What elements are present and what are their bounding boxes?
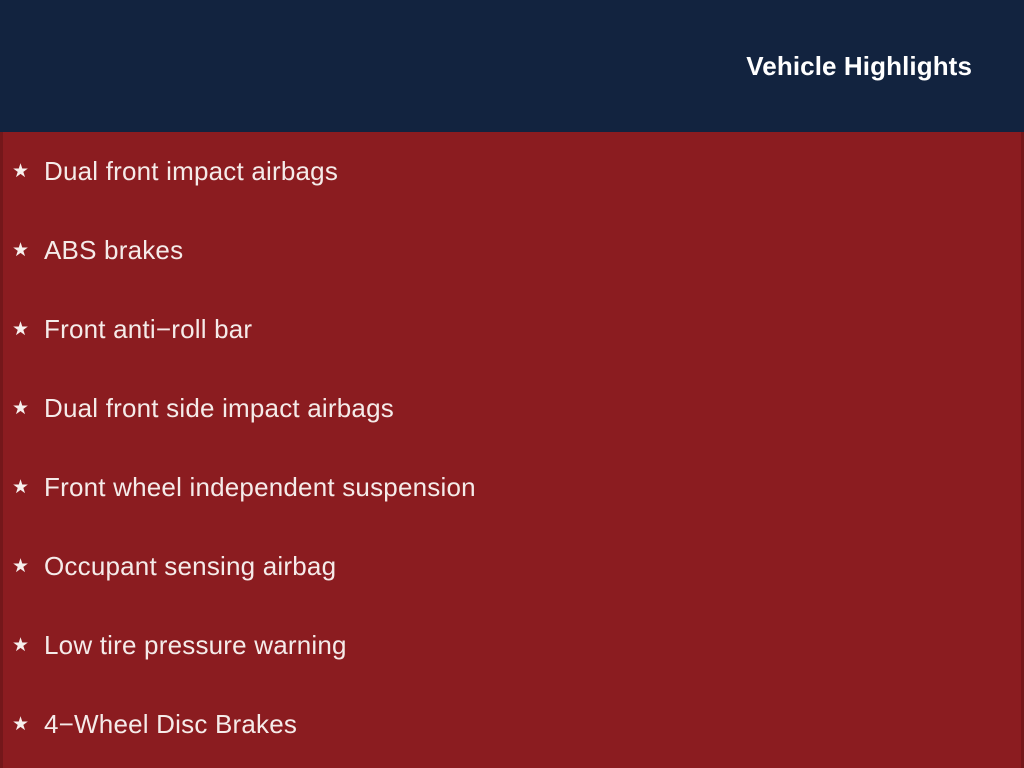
feature-label: Low tire pressure warning (44, 631, 347, 660)
star-bullet-icon: ★ (12, 715, 32, 734)
list-item: ★Dual front impact airbags (0, 132, 1024, 211)
feature-label: Occupant sensing airbag (44, 552, 336, 581)
feature-label: ABS brakes (44, 236, 183, 265)
star-bullet-icon: ★ (12, 557, 32, 576)
star-bullet-icon: ★ (12, 399, 32, 418)
star-bullet-icon: ★ (12, 162, 32, 181)
vehicle-highlights-slide: Vehicle Highlights ★Dual front impact ai… (0, 0, 1024, 768)
star-bullet-icon: ★ (12, 478, 32, 497)
star-bullet-icon: ★ (12, 320, 32, 339)
list-item: ★Occupant sensing airbag (0, 527, 1024, 606)
list-item: ★Dual front side impact airbags (0, 369, 1024, 448)
feature-label: 4−Wheel Disc Brakes (44, 710, 297, 739)
feature-label: Dual front impact airbags (44, 157, 338, 186)
slide-body: ★Dual front impact airbags★ABS brakes★Fr… (0, 132, 1024, 768)
list-item: ★Low tire pressure warning (0, 606, 1024, 685)
list-item: ★Front anti−roll bar (0, 290, 1024, 369)
star-bullet-icon: ★ (12, 241, 32, 260)
feature-label: Dual front side impact airbags (44, 394, 394, 423)
feature-label: Front anti−roll bar (44, 315, 252, 344)
feature-label: Front wheel independent suspension (44, 473, 476, 502)
list-item: ★4−Wheel Disc Brakes (0, 685, 1024, 764)
vehicle-feature-list: ★Dual front impact airbags★ABS brakes★Fr… (0, 132, 1024, 764)
page-title: Vehicle Highlights (746, 53, 972, 79)
star-bullet-icon: ★ (12, 636, 32, 655)
list-item: ★ABS brakes (0, 211, 1024, 290)
list-item: ★Front wheel independent suspension (0, 448, 1024, 527)
slide-header-band: Vehicle Highlights (0, 0, 1024, 132)
